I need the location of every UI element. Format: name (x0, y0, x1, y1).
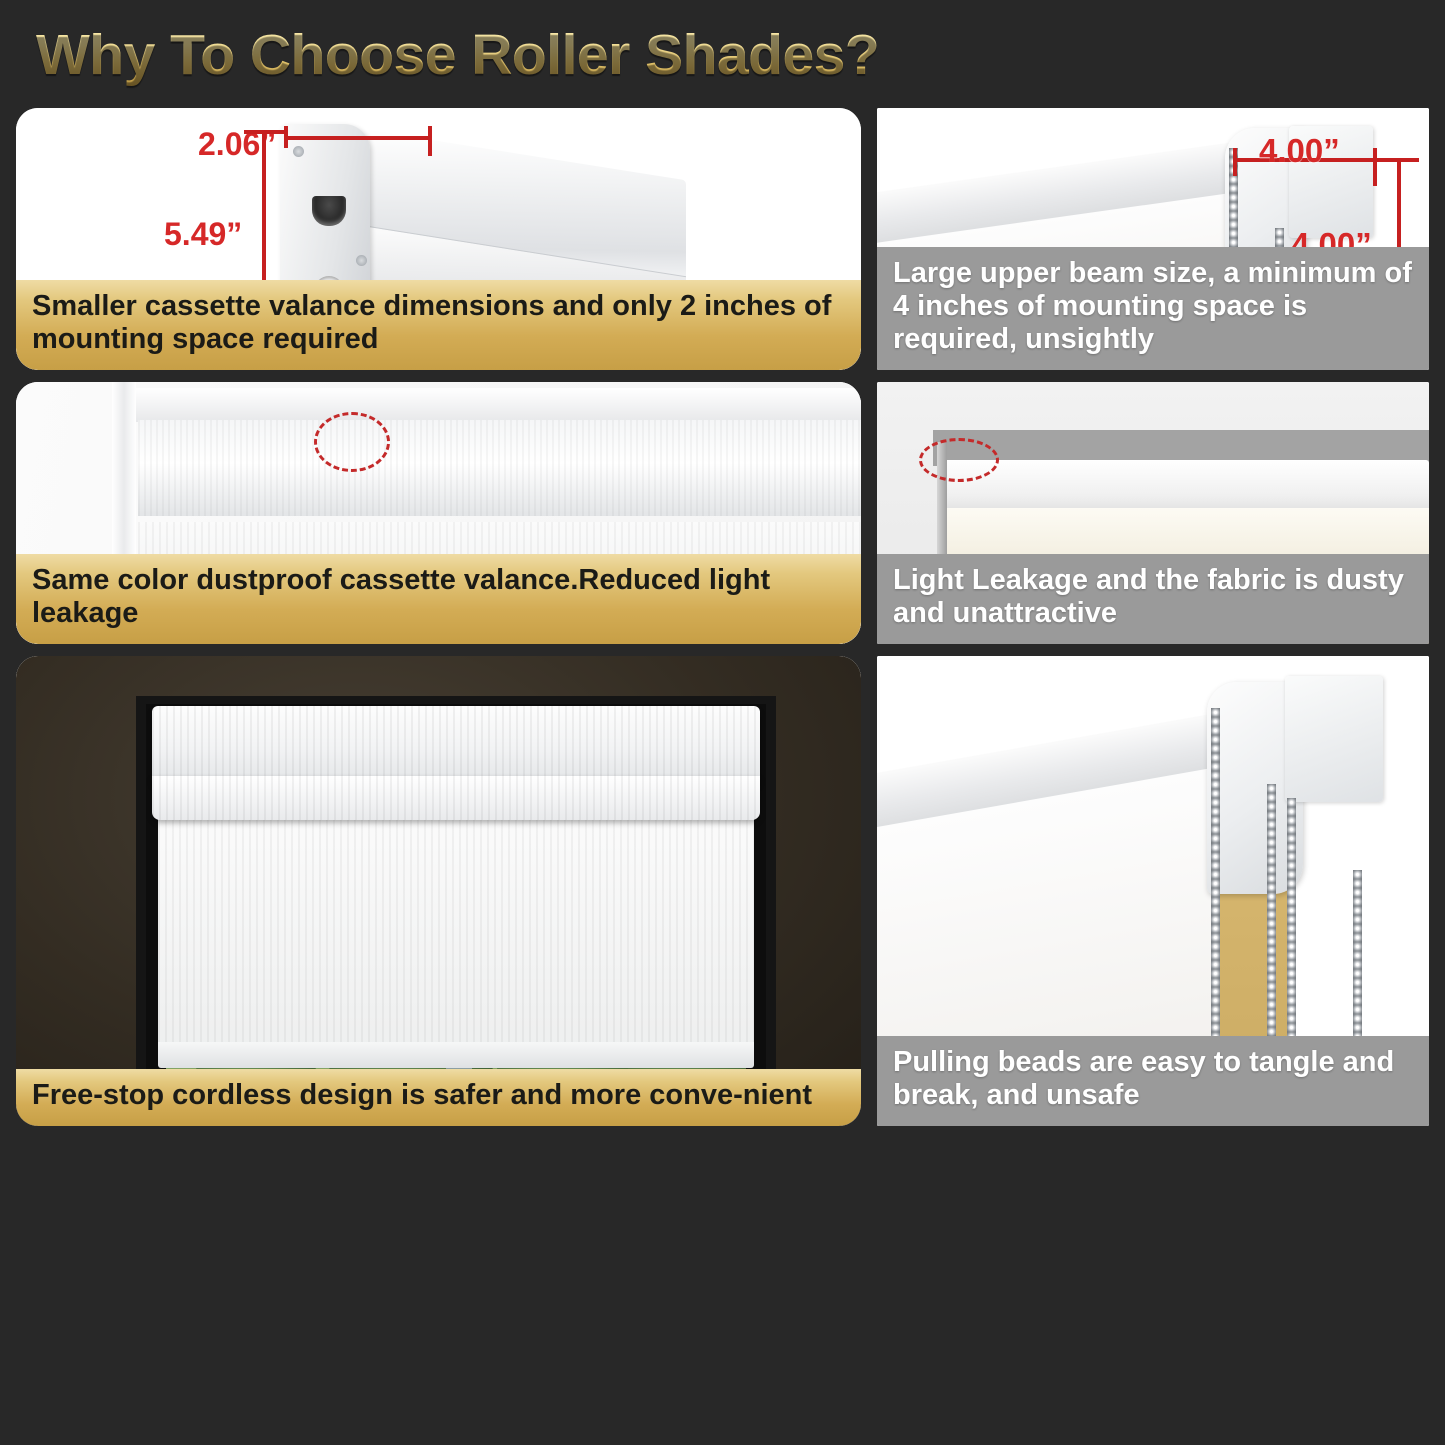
con-column-2: Large gap Light Leakage and the fabric i… (877, 382, 1429, 644)
bottom-rail-shape (158, 1042, 754, 1068)
width-dimension-label: 4.00” (1259, 132, 1340, 170)
comparison-row-3: Free-stop cordless design is safer and m… (0, 656, 1445, 1126)
pro-column-1: 2.06” 5.49” Smaller cassette valance dim… (16, 108, 861, 370)
shade-fabric-shape (158, 819, 754, 1051)
page-title: Why To Choose Roller Shades? (36, 22, 879, 88)
comparison-row-2: smaller gap Same color dustproof cassett… (0, 382, 1445, 644)
cassette-valance-lower-shape (152, 776, 760, 820)
con-caption-3: Pulling beads are easy to tangle and bre… (877, 1036, 1429, 1126)
bracket-slot-icon (312, 196, 346, 226)
pro-caption-3: Free-stop cordless design is safer and m… (16, 1069, 861, 1126)
con-column-3: Pulling beads are easy to tangle and bre… (877, 656, 1429, 1126)
pro-panel-cordless-design[interactable]: Free-stop cordless design is safer and m… (16, 656, 861, 1126)
con-caption-2: Light Leakage and the fabric is dusty an… (877, 554, 1429, 644)
cassette-valance-shape (138, 420, 861, 516)
pro-caption-2: Same color dustproof cassette valance.Re… (16, 554, 861, 644)
cassette-valance-shape (152, 706, 760, 784)
screw-icon (293, 146, 304, 157)
comparison-grid: 2.06” 5.49” Smaller cassette valance dim… (0, 108, 1445, 1126)
beam-lower-shape (939, 508, 1429, 560)
pro-panel-cassette-dimensions[interactable]: 2.06” 5.49” Smaller cassette valance dim… (16, 108, 861, 370)
pro-panel-smaller-gap[interactable]: smaller gap Same color dustproof cassett… (16, 382, 861, 644)
width-dimension-line (284, 136, 432, 140)
con-caption-1: Large upper beam size, a minimum of 4 in… (877, 247, 1429, 370)
pro-column-2: smaller gap Same color dustproof cassett… (16, 382, 861, 644)
width-dimension-tick-right (1373, 148, 1377, 186)
con-panel-large-gap[interactable]: Large gap Light Leakage and the fabric i… (877, 382, 1429, 644)
height-dimension-label: 5.49” (164, 216, 242, 253)
screw-icon (356, 255, 367, 266)
pro-caption-1: Smaller cassette valance dimensions and … (16, 280, 861, 370)
highlight-circle-annotation (919, 438, 999, 482)
photo-cordless-window-shade (16, 656, 861, 1126)
comparison-row-1: 2.06” 5.49” Smaller cassette valance dim… (0, 108, 1445, 370)
con-panel-pulling-beads[interactable]: Pulling beads are easy to tangle and bre… (877, 656, 1429, 1126)
con-panel-large-beam[interactable]: 4.00” 4.00” Large upper beam size, a min… (877, 108, 1429, 370)
height-dimension-tick-top (1377, 158, 1419, 162)
window-head-trim (112, 388, 861, 422)
width-dimension-tick-right (428, 126, 432, 156)
mounting-plate-shape (1285, 676, 1383, 802)
con-column-1: 4.00” 4.00” Large upper beam size, a min… (877, 108, 1429, 370)
infographic-page: Why To Choose Roller Shades? (0, 0, 1445, 1445)
pro-column-3: Free-stop cordless design is safer and m… (16, 656, 861, 1126)
height-dimension-tick-top (244, 130, 288, 134)
width-dimension-tick-left (1233, 148, 1237, 176)
highlight-circle-annotation (314, 412, 390, 472)
